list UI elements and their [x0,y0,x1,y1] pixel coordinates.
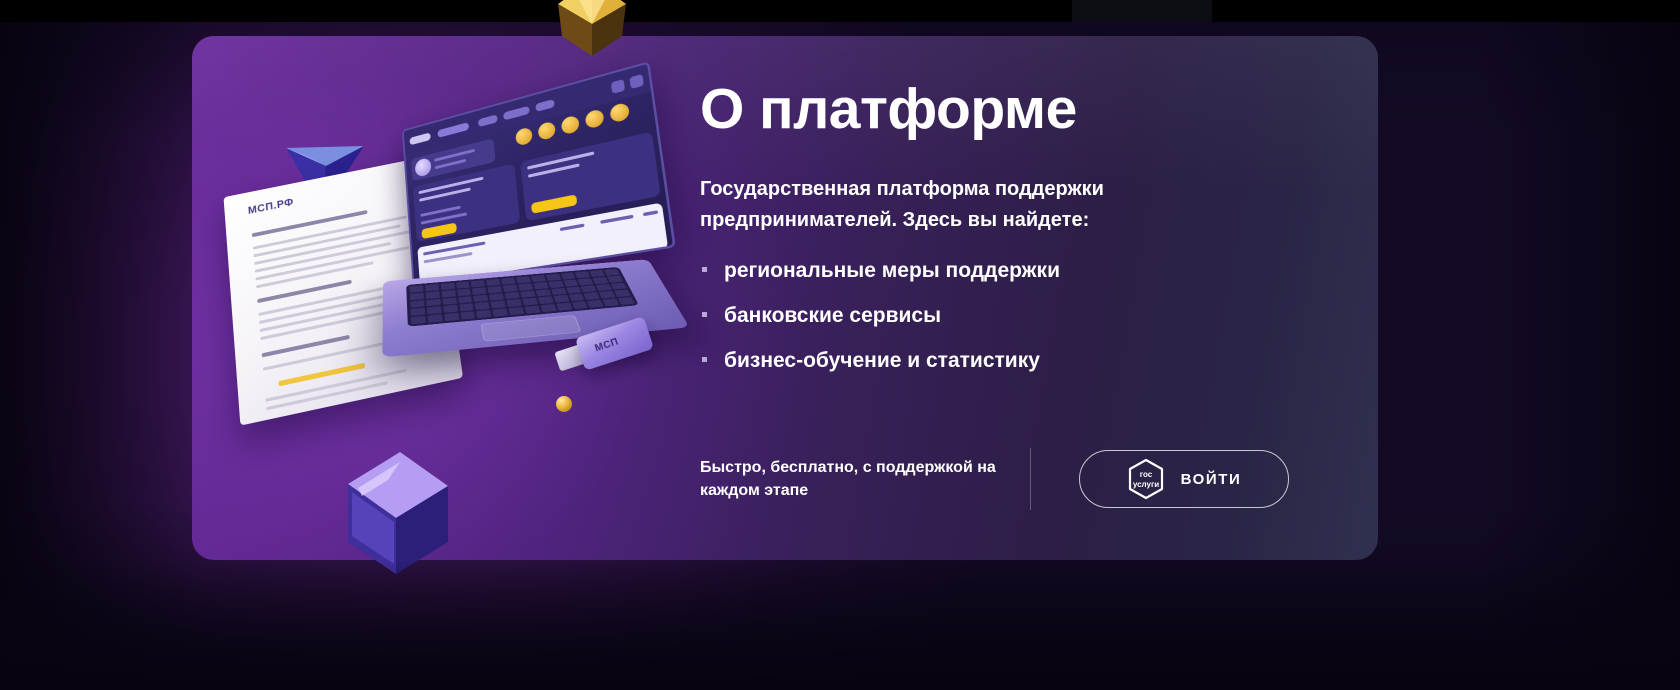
list-item-label: региональные меры поддержки [724,259,1060,282]
page-title: О платформе [700,80,1340,140]
laptop-keyboard [406,267,639,327]
gosuslugi-logo-icon: гос услуги [1127,458,1165,500]
hero-content: О платформе Государственная платформа по… [700,80,1340,393]
login-button[interactable]: гос услуги ВОЙТИ [1079,450,1289,508]
logo-line-1: гос [1139,470,1152,479]
gold-octahedron-icon [556,0,628,58]
hero-bullet-list: региональные меры поддержки банковские с… [700,258,1340,374]
list-item: бизнес-обучение и статистику [700,348,1340,373]
list-item-label: бизнес-обучение и статистику [724,349,1040,372]
cta-row: Быстро, бесплатно, с поддержкой на каждо… [700,446,1340,512]
document-logo: МСП.РФ [248,196,295,216]
laptop-illustration [375,120,705,420]
bullet-square-icon [702,267,707,272]
cta-tagline: Быстро, бесплатно, с поддержкой на каждо… [700,456,1030,502]
logo-line-2: услуги [1132,480,1158,489]
laptop-screen [402,61,676,288]
list-item: региональные меры поддержки [700,258,1340,283]
hero-illustration: МСП.РФ [200,0,720,610]
hero-subtitle: Государственная платформа поддержки пред… [700,174,1200,236]
browser-tab[interactable] [1072,0,1212,22]
login-button-label: ВОЙТИ [1181,471,1242,488]
list-item: банковские сервисы [700,303,1340,328]
bullet-square-icon [702,312,707,317]
purple-cube-icon [338,440,454,580]
bullet-square-icon [702,357,707,362]
cta-divider [1030,448,1031,510]
list-item-label: банковские сервисы [724,304,941,327]
laptop-trackpad [481,315,582,342]
